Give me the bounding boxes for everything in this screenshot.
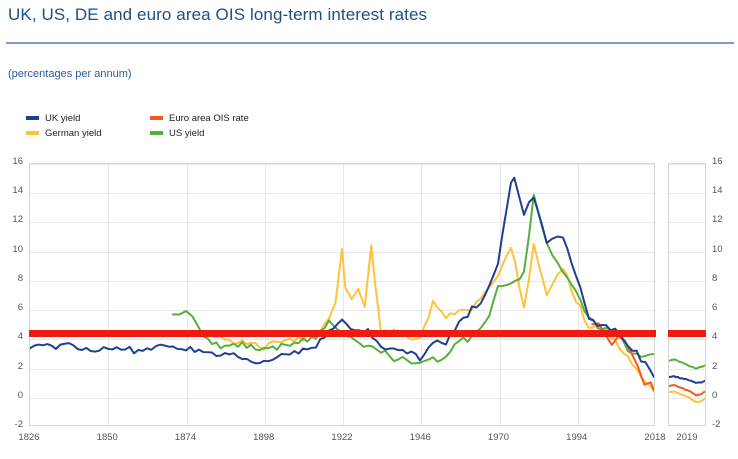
y-axis-tick-right: 2 [712,361,734,372]
y-axis-tick-right: -2 [712,419,734,430]
y-axis-tick-left: 6 [0,302,23,313]
legend-label: UK yield [45,113,80,124]
x-axis-tick-main: 1922 [317,432,367,443]
series-line [205,244,654,392]
y-axis-tick-right: 10 [712,244,734,255]
series-line [669,376,705,383]
legend-swatch-icon [26,116,39,120]
page-title: UK, US, DE and euro area OIS long-term i… [8,5,427,25]
title-divider [6,42,734,44]
x-axis-tick-side: 2019 [662,432,712,443]
main-plot-panel [29,163,655,426]
reference-line-main [29,330,656,337]
y-axis-tick-right: 6 [712,302,734,313]
legend-label: Euro area OIS rate [169,113,249,124]
x-axis-tick-main: 1826 [4,432,54,443]
series-line [30,178,654,377]
legend-item[interactable]: Euro area OIS rate [150,111,249,125]
legend-item[interactable]: German yield [26,126,102,140]
reference-line-side [668,330,706,337]
side-plot-panel-2019 [668,163,706,426]
series-line [669,391,705,402]
legend-item[interactable]: UK yield [26,111,80,125]
legend-label: German yield [45,128,102,139]
x-axis-tick-main: 1970 [474,432,524,443]
legend-swatch-icon [26,131,39,135]
x-axis-tick-main: 1850 [82,432,132,443]
y-axis-tick-left: 16 [0,156,23,167]
y-axis-tick-left: -2 [0,419,23,430]
y-axis-tick-right: 14 [712,185,734,196]
series-line [173,195,654,364]
y-axis-tick-right: 8 [712,273,734,284]
legend-item[interactable]: US yield [150,126,204,140]
y-axis-tick-right: 16 [712,156,734,167]
y-axis-tick-left: 0 [0,390,23,401]
y-axis-tick-left: 10 [0,244,23,255]
x-axis-tick-main: 1994 [552,432,602,443]
legend-swatch-icon [150,116,163,120]
y-axis-tick-right: 4 [712,331,734,342]
x-axis-tick-main: 1946 [395,432,445,443]
chart-subtitle: (percentages per annum) [8,68,132,80]
x-axis-tick-main: 1898 [239,432,289,443]
chart-legend: UK yieldEuro area OIS rateGerman yieldUS… [26,111,286,141]
series-line [669,360,705,369]
y-axis-tick-left: 14 [0,185,23,196]
y-axis-tick-left: 2 [0,361,23,372]
legend-swatch-icon [150,131,163,135]
main-series-svg [30,164,654,425]
y-axis-tick-left: 12 [0,214,23,225]
x-axis-tick-main: 1874 [161,432,211,443]
y-axis-tick-right: 12 [712,214,734,225]
legend-label: US yield [169,128,204,139]
y-axis-tick-left: 8 [0,273,23,284]
y-axis-tick-right: 0 [712,390,734,401]
y-axis-tick-left: 4 [0,331,23,342]
side-series-svg [669,164,705,425]
chart-container: UK, US, DE and euro area OIS long-term i… [0,0,738,459]
